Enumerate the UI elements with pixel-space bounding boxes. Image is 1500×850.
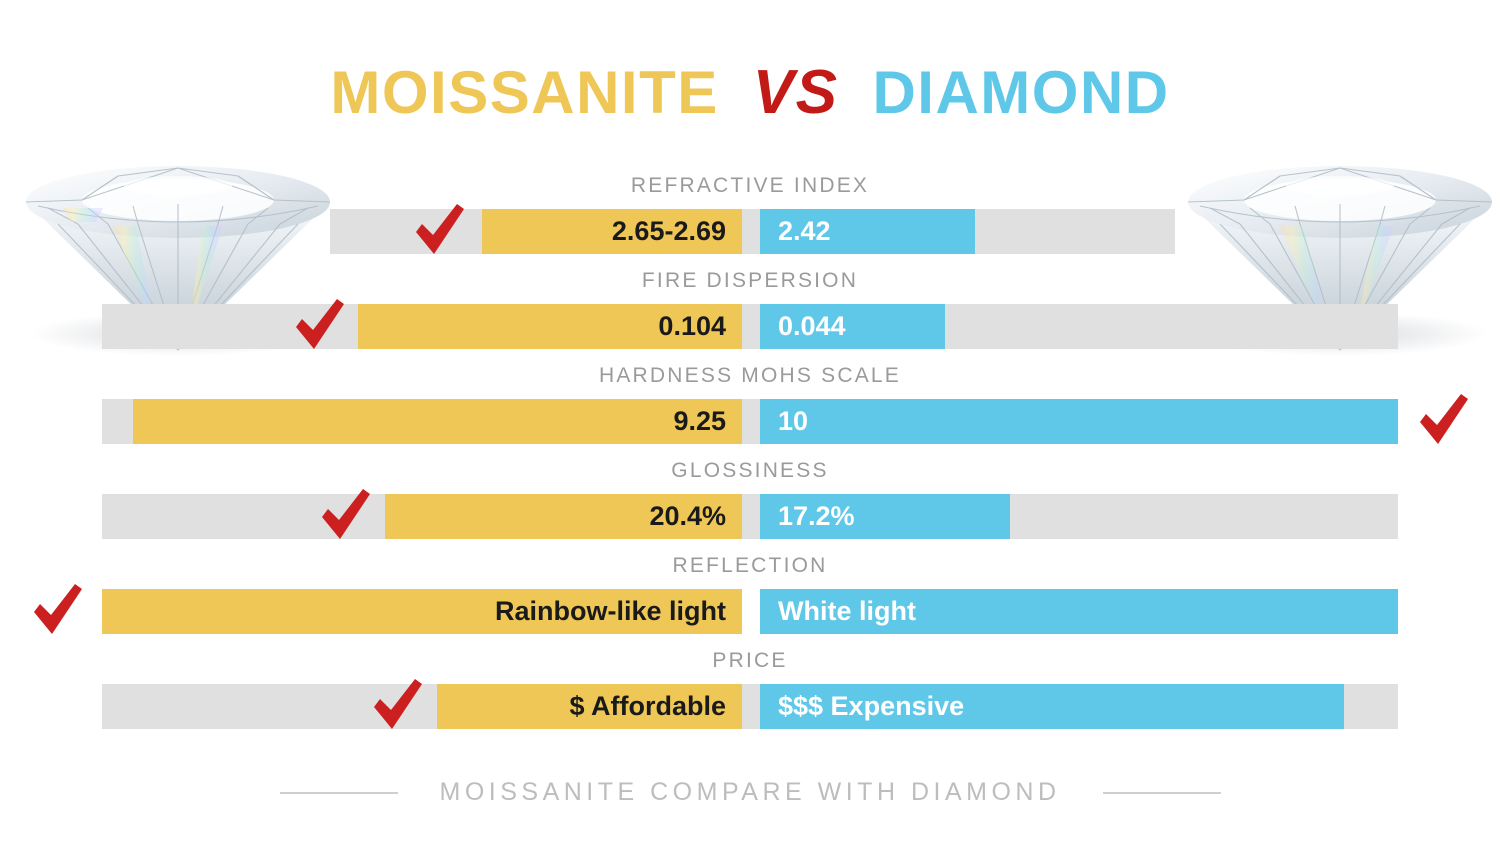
moissanite-bar-price: $ Affordable — [437, 684, 742, 729]
row-label-price: PRICE — [0, 649, 1500, 673]
row-track — [102, 494, 1398, 539]
checkmark-icon-price — [370, 677, 424, 735]
moissanite-bar-reflection: Rainbow-like light — [102, 589, 742, 634]
diamond-bar-fire-dispersion: 0.044 — [760, 304, 945, 349]
footer-caption: MOISSANITE COMPARE WITH DIAMOND — [440, 778, 1061, 807]
checkmark-icon-fire-dispersion — [292, 297, 346, 355]
moissanite-value-hardness-mohs-scale: 9.25 — [673, 406, 726, 437]
diamond-bar-glossiness: 17.2% — [760, 494, 1010, 539]
page-title: MOISSANITE VS DIAMOND — [0, 62, 1500, 124]
moissanite-bar-glossiness: 20.4% — [385, 494, 742, 539]
row-label-glossiness: GLOSSINESS — [0, 459, 1500, 483]
moissanite-value-fire-dispersion: 0.104 — [658, 311, 726, 342]
footer-divider-right — [1103, 792, 1221, 794]
diamond-value-refractive-index: 2.42 — [778, 216, 831, 247]
comparison-row-fire-dispersion: FIRE DISPERSION 0.104 0.044 — [0, 263, 1500, 358]
row-label-hardness-mohs-scale: HARDNESS MOHS SCALE — [0, 364, 1500, 388]
title-vs: VS — [753, 62, 839, 124]
diamond-bar-price: $$$ Expensive — [760, 684, 1344, 729]
comparison-row-price: PRICE $ Affordable $$$ Expensive — [0, 643, 1500, 738]
checkmark-icon-hardness-mohs-scale — [1416, 392, 1470, 450]
moissanite-value-reflection: Rainbow-like light — [495, 596, 726, 627]
checkmark-icon-glossiness — [318, 487, 372, 545]
moissanite-value-glossiness: 20.4% — [649, 501, 726, 532]
footer: MOISSANITE COMPARE WITH DIAMOND — [0, 778, 1500, 807]
row-label-refractive-index: REFRACTIVE INDEX — [0, 174, 1500, 198]
comparison-rows: REFRACTIVE INDEX 2.65-2.69 2.42 FIRE DIS… — [0, 168, 1500, 738]
diamond-value-price: $$$ Expensive — [778, 691, 964, 722]
moissanite-bar-fire-dispersion: 0.104 — [358, 304, 742, 349]
diamond-bar-hardness-mohs-scale: 10 — [760, 399, 1398, 444]
diamond-bar-reflection: White light — [760, 589, 1398, 634]
comparison-row-reflection: REFLECTION Rainbow-like light White ligh… — [0, 548, 1500, 643]
moissanite-value-price: $ Affordable — [569, 691, 726, 722]
title-moissanite: MOISSANITE — [330, 63, 718, 123]
footer-divider-left — [280, 792, 398, 794]
diamond-value-fire-dispersion: 0.044 — [778, 311, 846, 342]
checkmark-icon-reflection — [30, 582, 84, 640]
comparison-row-glossiness: GLOSSINESS 20.4% 17.2% — [0, 453, 1500, 548]
checkmark-icon-refractive-index — [412, 202, 466, 260]
comparison-row-refractive-index: REFRACTIVE INDEX 2.65-2.69 2.42 — [0, 168, 1500, 263]
title-diamond: DIAMOND — [872, 63, 1169, 123]
row-label-reflection: REFLECTION — [0, 554, 1500, 578]
moissanite-value-refractive-index: 2.65-2.69 — [612, 216, 726, 247]
moissanite-bar-refractive-index: 2.65-2.69 — [482, 209, 742, 254]
diamond-value-hardness-mohs-scale: 10 — [778, 406, 808, 437]
diamond-bar-refractive-index: 2.42 — [760, 209, 975, 254]
comparison-row-hardness-mohs-scale: HARDNESS MOHS SCALE 9.25 10 — [0, 358, 1500, 453]
row-label-fire-dispersion: FIRE DISPERSION — [0, 269, 1500, 293]
diamond-value-reflection: White light — [778, 596, 916, 627]
moissanite-bar-hardness-mohs-scale: 9.25 — [133, 399, 742, 444]
diamond-value-glossiness: 17.2% — [778, 501, 855, 532]
